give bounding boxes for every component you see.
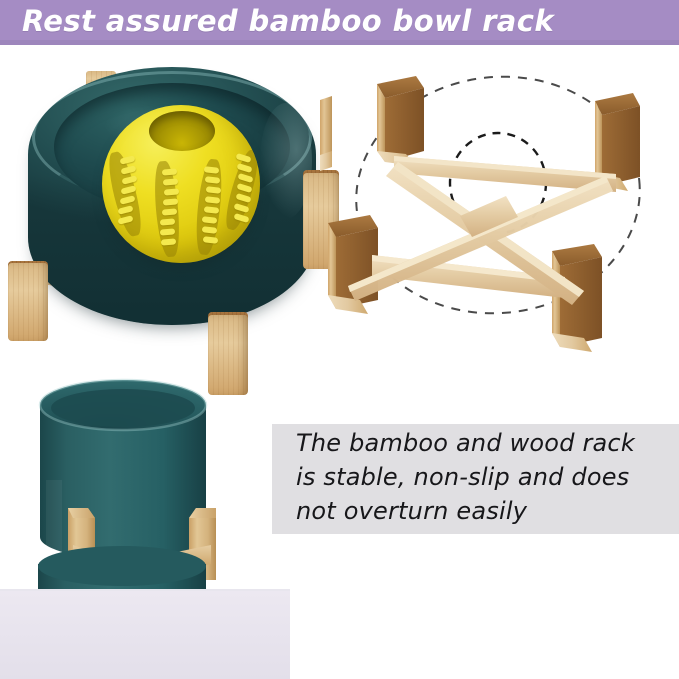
rack-illustration [320, 55, 679, 355]
header-banner: Rest assured bamboo bowl rack [0, 0, 679, 45]
table-surface [0, 591, 290, 679]
page-title: Rest assured bamboo bowl rack [22, 4, 554, 38]
panel-stacked-bowls [0, 360, 290, 679]
bowl-upper [40, 380, 206, 560]
caption-box: The bamboo and wood rack is stable, non-… [272, 424, 679, 534]
caption-line-3: not overturn easily [296, 497, 527, 525]
ball-rib [162, 168, 177, 175]
ball-rib [164, 188, 179, 195]
caption-line-2: is stable, non-slip and does [296, 463, 629, 491]
product-infographic: Rest assured bamboo bowl rack [0, 0, 679, 679]
rack-leg-front-left [8, 263, 48, 341]
banner-underline [0, 40, 679, 45]
panel-bowl-with-ball [0, 55, 340, 355]
ball-rib [161, 238, 176, 245]
ball-center-hole [149, 111, 215, 151]
panel-rack-alone [320, 55, 679, 355]
rack-leg-rear-left [377, 76, 424, 166]
ball-rib [163, 178, 178, 185]
rack-leg-partial-left [320, 96, 332, 171]
caption-line-1: The bamboo and wood rack [296, 429, 635, 457]
treat-ball-toy [102, 105, 260, 263]
rack-leg-front-left [328, 215, 378, 314]
